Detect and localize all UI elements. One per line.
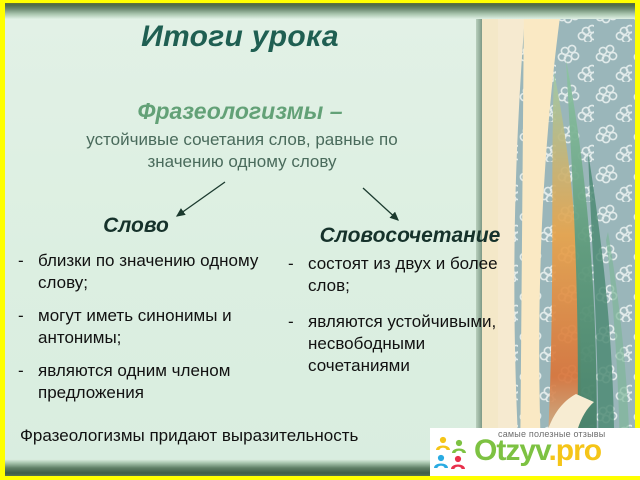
frame-border-bottom bbox=[0, 476, 640, 480]
slide-canvas: Итоги урока Фразеологизмы – устойчивые с… bbox=[0, 0, 640, 480]
frame-border-top bbox=[0, 0, 640, 3]
watermark-brand: Otzyv.pro bbox=[474, 436, 601, 466]
frame-border-right bbox=[635, 0, 640, 480]
connector-arrows bbox=[0, 0, 480, 480]
brand-name: Otzyv bbox=[474, 434, 548, 467]
arrow-to-left-column bbox=[177, 182, 225, 216]
arrow-to-right-column bbox=[363, 188, 398, 220]
watermark-overlay: самые полезные отзывы Otzyv.pro bbox=[430, 428, 640, 476]
brand-tld: .pro bbox=[548, 434, 601, 467]
otzyv-logo-icon bbox=[432, 434, 472, 472]
frame-border-left bbox=[0, 0, 5, 480]
